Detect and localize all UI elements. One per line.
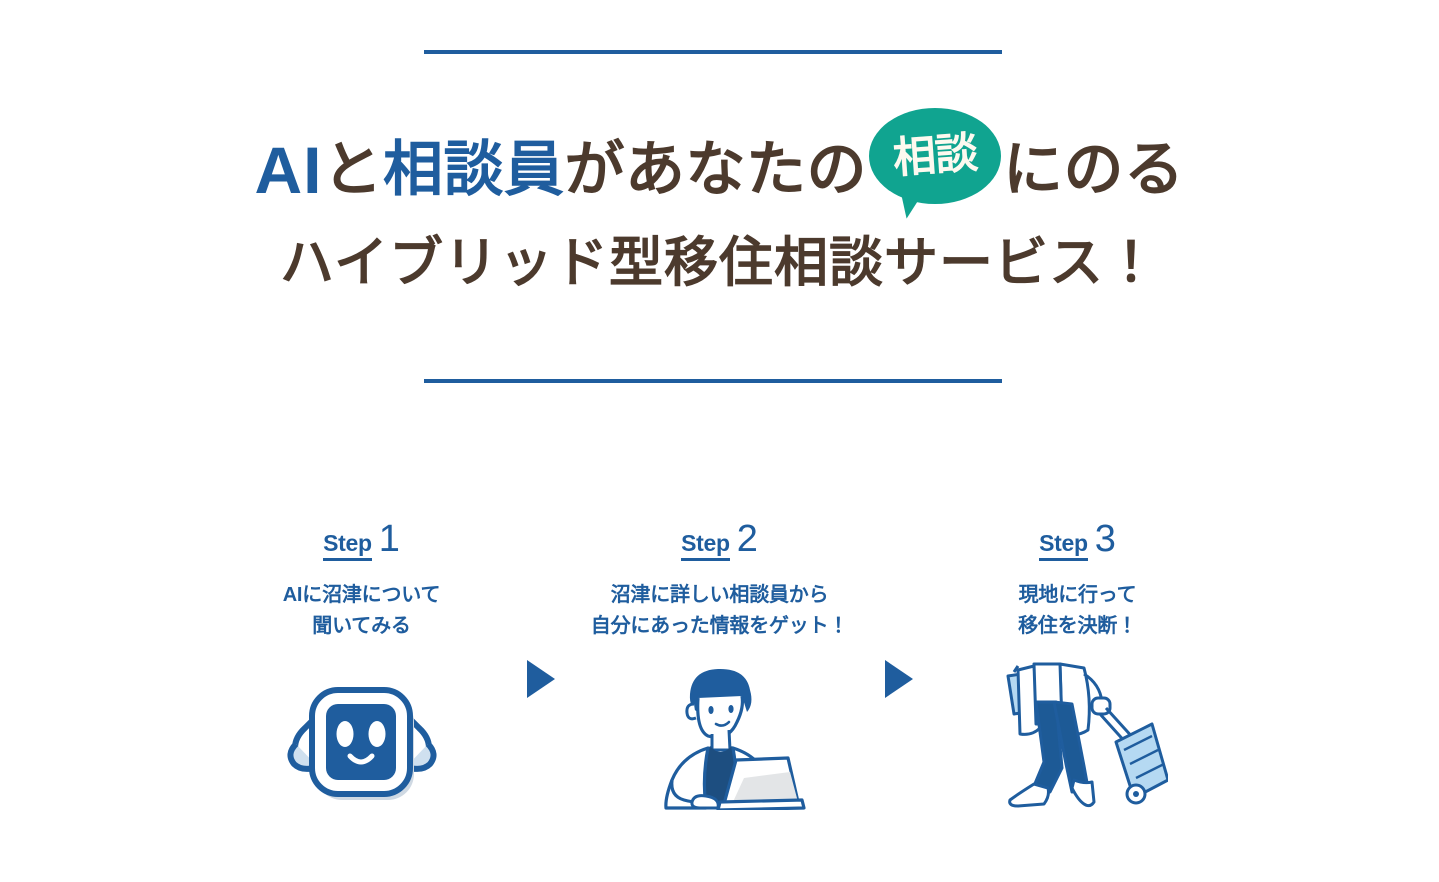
page-title: AIと相談員があなたの 相談 にのる ハイブリッド型移住相談サービス！ xyxy=(0,118,1439,290)
step-item-2: Step 2 沼津に詳しい相談員から 自分にあった情報をゲット！ xyxy=(589,520,851,810)
step-label-2: Step xyxy=(681,532,730,561)
consultation-speech-bubble: 相談 xyxy=(869,108,1001,212)
step-heading-2: Step 2 xyxy=(681,520,758,566)
arrow-step2-to-step3 xyxy=(851,520,947,698)
traveler-suitcase-icon xyxy=(988,658,1168,810)
step-number-3: 3 xyxy=(1095,520,1116,558)
step-caption-1-line-1: AIに沼津について xyxy=(283,580,441,611)
step-item-3: Step 3 現地に行って 移住を決断！ xyxy=(947,520,1209,810)
step-heading-1: Step 1 xyxy=(323,520,400,566)
step-number-1: 1 xyxy=(379,520,400,558)
arrow-right-icon xyxy=(527,660,555,698)
arrow-right-icon xyxy=(885,660,913,698)
divider-top xyxy=(424,50,1002,54)
step-art-2 xyxy=(632,660,808,810)
step-caption-2: 沼津に詳しい相談員から 自分にあった情報をゲット！ xyxy=(591,580,848,642)
headline-line-2: ハイブリッド型移住相談サービス！ xyxy=(0,236,1439,290)
step-caption-3-line-2: 移住を決断！ xyxy=(1018,611,1137,642)
step-art-3 xyxy=(988,660,1168,810)
robot-icon xyxy=(272,670,452,810)
headline-tail-text: にのる xyxy=(1003,136,1185,203)
arrow-step1-to-step2 xyxy=(493,520,589,698)
headline-line-1: AIと相談員があなたの 相談 にのる xyxy=(0,118,1439,214)
speech-bubble-label: 相談 xyxy=(866,104,1004,209)
step-art-1 xyxy=(272,660,452,810)
step-caption-3: 現地に行って 移住を決断！ xyxy=(1018,580,1137,642)
headline-middle-text: があなたの xyxy=(565,136,868,203)
headline-ai-text: AI xyxy=(255,133,323,207)
step-label-1: Step xyxy=(323,532,372,561)
headline-advisor-text: 相談員 xyxy=(383,136,565,203)
advisor-laptop-icon xyxy=(632,660,808,810)
step-heading-3: Step 3 xyxy=(1039,520,1116,566)
steps-row: Step 1 AIに沼津について 聞いてみる xyxy=(0,520,1439,810)
step-item-1: Step 1 AIに沼津について 聞いてみる xyxy=(231,520,493,810)
step-label-3: Step xyxy=(1039,532,1088,561)
step-caption-2-line-1: 沼津に詳しい相談員から xyxy=(591,580,848,611)
step-caption-1-line-2: 聞いてみる xyxy=(283,611,441,642)
headline-to-text: と xyxy=(323,136,384,203)
divider-bottom xyxy=(424,379,1002,383)
step-caption-2-line-2: 自分にあった情報をゲット！ xyxy=(591,611,848,642)
step-caption-3-line-1: 現地に行って xyxy=(1018,580,1137,611)
step-caption-1: AIに沼津について 聞いてみる xyxy=(283,580,441,642)
landing-hero: AIと相談員があなたの 相談 にのる ハイブリッド型移住相談サービス！ Step… xyxy=(0,0,1439,882)
step-number-2: 2 xyxy=(737,520,758,558)
